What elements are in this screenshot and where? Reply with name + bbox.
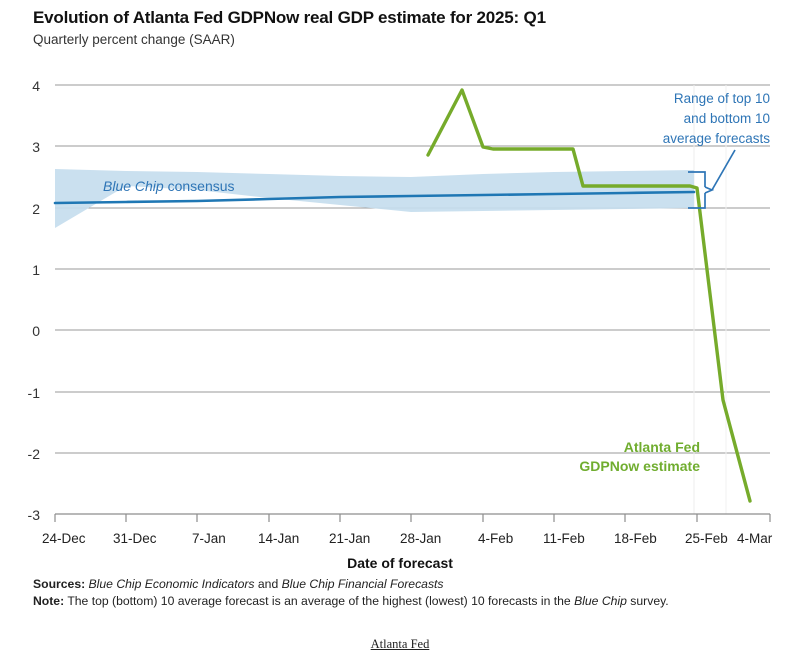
xtick-0: 24-Dec xyxy=(42,531,86,546)
gdpnow-label-line2: GDPNow estimate xyxy=(579,458,700,474)
sources-publication-1: Blue Chip Economic Indicators xyxy=(89,577,255,591)
xtick-9: 25-Feb xyxy=(685,531,728,546)
svg-text:-2: -2 xyxy=(28,446,41,462)
xtick-2: 7-Jan xyxy=(192,531,226,546)
sources-conjunction: and xyxy=(255,577,282,591)
gdpnow-chart-svg: 4 3 2 1 0 -1 -2 -3 24-Dec 31-Dec 7-Jan 1… xyxy=(0,0,800,575)
xtick-4: 21-Jan xyxy=(329,531,370,546)
xtick-10: 4-Mar xyxy=(737,531,773,546)
note-label: Note: xyxy=(33,594,64,608)
chart-plot-area: 4 3 2 1 0 -1 -2 -3 24-Dec 31-Dec 7-Jan 1… xyxy=(0,0,800,669)
gdpnow-annotation-label: Atlanta Fed GDPNow estimate xyxy=(579,439,700,474)
svg-text:4: 4 xyxy=(32,78,40,94)
svg-text:-1: -1 xyxy=(28,385,41,401)
xtick-3: 14-Jan xyxy=(258,531,299,546)
gdpnow-estimate-line xyxy=(428,90,750,501)
svg-text:-3: -3 xyxy=(28,507,41,523)
range-label-line2: and bottom 10 xyxy=(684,111,770,126)
note-text-part2: survey. xyxy=(627,594,669,608)
blue-chip-consensus-label: Blue Chip consensus xyxy=(103,178,235,194)
range-label-line1: Range of top 10 xyxy=(674,91,770,106)
x-axis-title: Date of forecast xyxy=(347,555,453,571)
range-callout-bracket xyxy=(688,150,735,208)
sources-label: Sources: xyxy=(33,577,85,591)
xtick-7: 11-Feb xyxy=(543,531,585,546)
sources-note: Sources: Blue Chip Economic Indicators a… xyxy=(33,576,773,593)
xtick-8: 18-Feb xyxy=(614,531,657,546)
svg-text:0: 0 xyxy=(32,323,40,339)
note-text-italic: Blue Chip xyxy=(574,594,627,608)
source-credit: Atlanta Fed xyxy=(0,637,800,652)
svg-text:1: 1 xyxy=(32,262,40,278)
sources-publication-2: Blue Chip Financial Forecasts xyxy=(282,577,444,591)
xtick-5: 28-Jan xyxy=(400,531,441,546)
x-axis-tick-labels: 24-Dec 31-Dec 7-Jan 14-Jan 21-Jan 28-Jan… xyxy=(42,531,773,546)
y-axis-ticks: 4 3 2 1 0 -1 -2 -3 xyxy=(28,78,41,523)
blue-chip-rest: consensus xyxy=(164,178,235,194)
source-credit-text: Atlanta Fed xyxy=(371,637,430,651)
svg-text:3: 3 xyxy=(32,139,40,155)
range-label-line3: average forecasts xyxy=(663,131,771,146)
range-annotation-label: Range of top 10 and bottom 10 average fo… xyxy=(663,91,771,146)
svg-text:2: 2 xyxy=(32,201,40,217)
methodology-note: Note: The top (bottom) 10 average foreca… xyxy=(33,593,773,610)
blue-chip-italic: Blue Chip xyxy=(103,178,164,194)
note-text-part1: The top (bottom) 10 average forecast is … xyxy=(67,594,574,608)
xtick-6: 4-Feb xyxy=(478,531,513,546)
chart-footnotes: Sources: Blue Chip Economic Indicators a… xyxy=(33,576,773,611)
gdpnow-label-line1: Atlanta Fed xyxy=(624,439,700,455)
x-axis xyxy=(55,514,770,522)
xtick-1: 31-Dec xyxy=(113,531,157,546)
